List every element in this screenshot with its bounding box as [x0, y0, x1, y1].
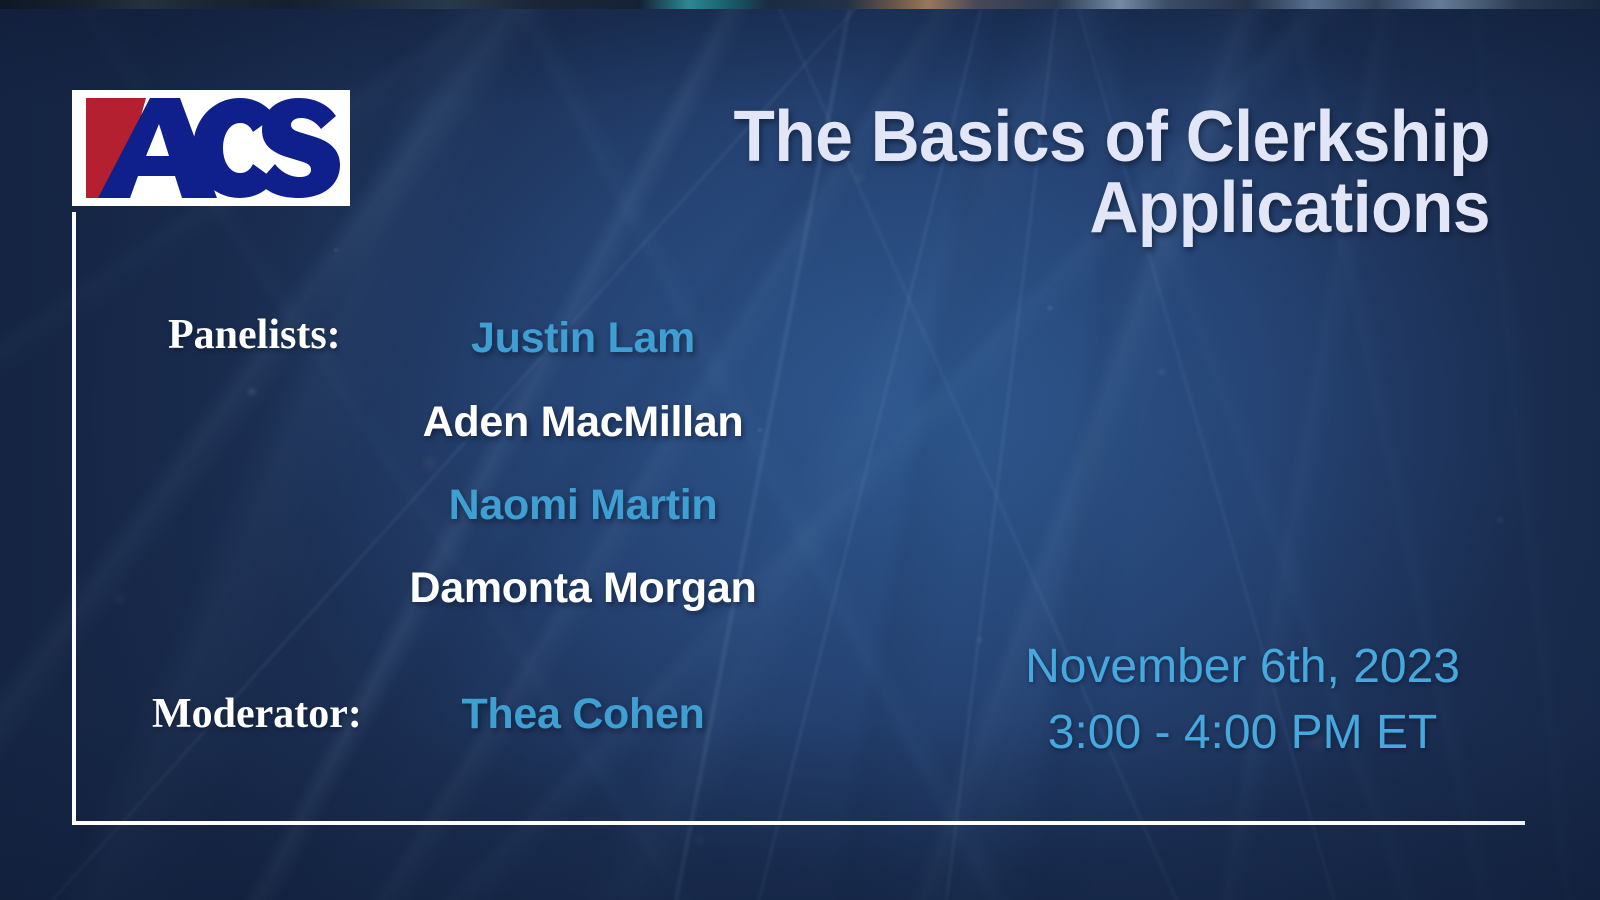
frame-vertical-rule [72, 212, 76, 825]
acs-logo [72, 90, 350, 206]
event-date: November 6th, 2023 [1025, 634, 1460, 700]
panelist-name: Aden MacMillan [283, 398, 883, 447]
panelist-name: Damonta Morgan [283, 564, 883, 613]
event-time: 3:00 - 4:00 PM ET [1025, 700, 1460, 766]
title-line-2: Applications [531, 173, 1490, 244]
page-title: The Basics of Clerkship Applications [531, 102, 1490, 243]
frame-horizontal-rule [72, 821, 1525, 825]
panelist-name: Justin Lam [283, 314, 883, 363]
event-datetime: November 6th, 2023 3:00 - 4:00 PM ET [1025, 634, 1460, 766]
panelist-name: Naomi Martin [283, 481, 883, 530]
moderator-name: Thea Cohen [283, 690, 883, 739]
top-color-strip [0, 0, 1600, 9]
title-line-1: The Basics of Clerkship [531, 102, 1490, 173]
webinar-slide: The Basics of Clerkship Applications Pan… [0, 0, 1600, 900]
